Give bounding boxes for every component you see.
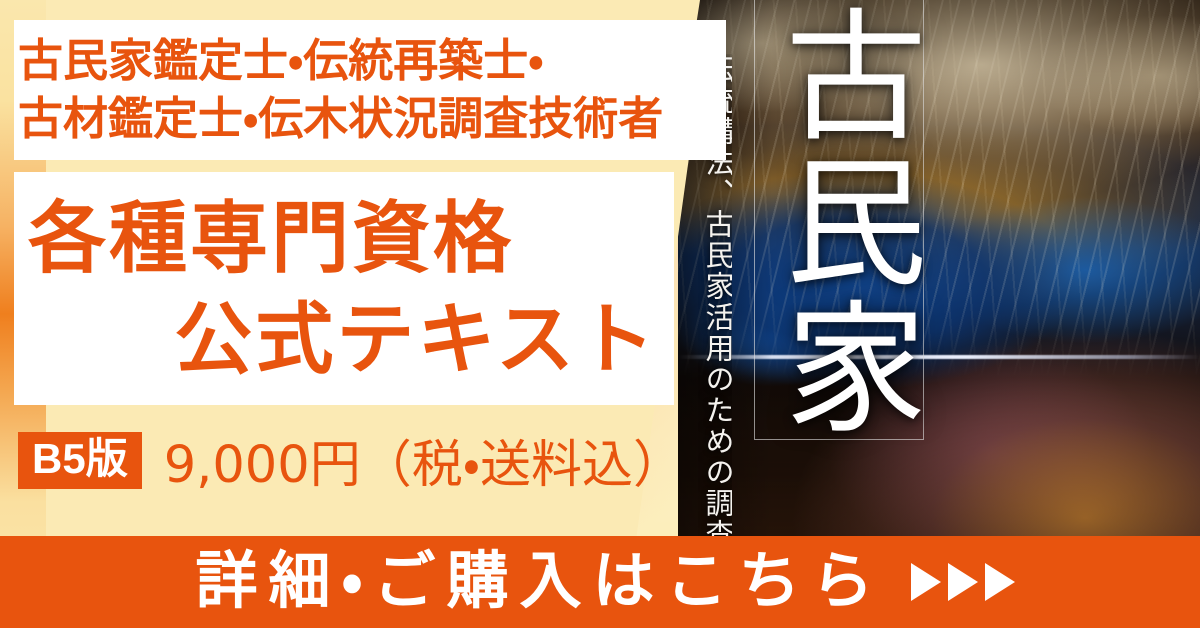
headline-text: 古民家鑑定士・伝統再築士・ 古材鑑定士・伝木状況調査技術者: [18, 24, 724, 156]
main-title-line-2: 公式テキスト: [14, 289, 670, 390]
promo-banner: 古民家 伝統構法、古民家活用のための調査と再生の 古民家鑑定士・伝統再築士・ 古…: [0, 0, 1200, 628]
main-title-line-1: 各種専門資格: [14, 188, 670, 289]
format-badge: B5版: [18, 432, 142, 489]
headline-line-1: 古民家鑑定士・伝統再築士・: [18, 32, 724, 91]
headline-line-2: 古材鑑定士・伝木状況調査技術者: [18, 90, 724, 149]
book-cover-image: 古民家 伝統構法、古民家活用のための調査と再生の: [678, 0, 1200, 540]
main-title: 各種専門資格 公式テキスト: [14, 176, 670, 402]
price-row: B5版 9,000円（税・送料込）: [18, 424, 684, 496]
cta-label: 詳細・ご購入はこちら: [185, 551, 884, 613]
cta-arrows: [911, 563, 1015, 601]
cta-button[interactable]: 詳細・ご購入はこちら: [0, 536, 1200, 628]
play-triangle-icon: [985, 563, 1015, 601]
play-triangle-icon: [948, 563, 978, 601]
price-text: 9,000円（税・送料込）: [164, 423, 684, 497]
cover-title-text: 古民家: [764, 2, 914, 440]
play-triangle-icon: [911, 563, 941, 601]
